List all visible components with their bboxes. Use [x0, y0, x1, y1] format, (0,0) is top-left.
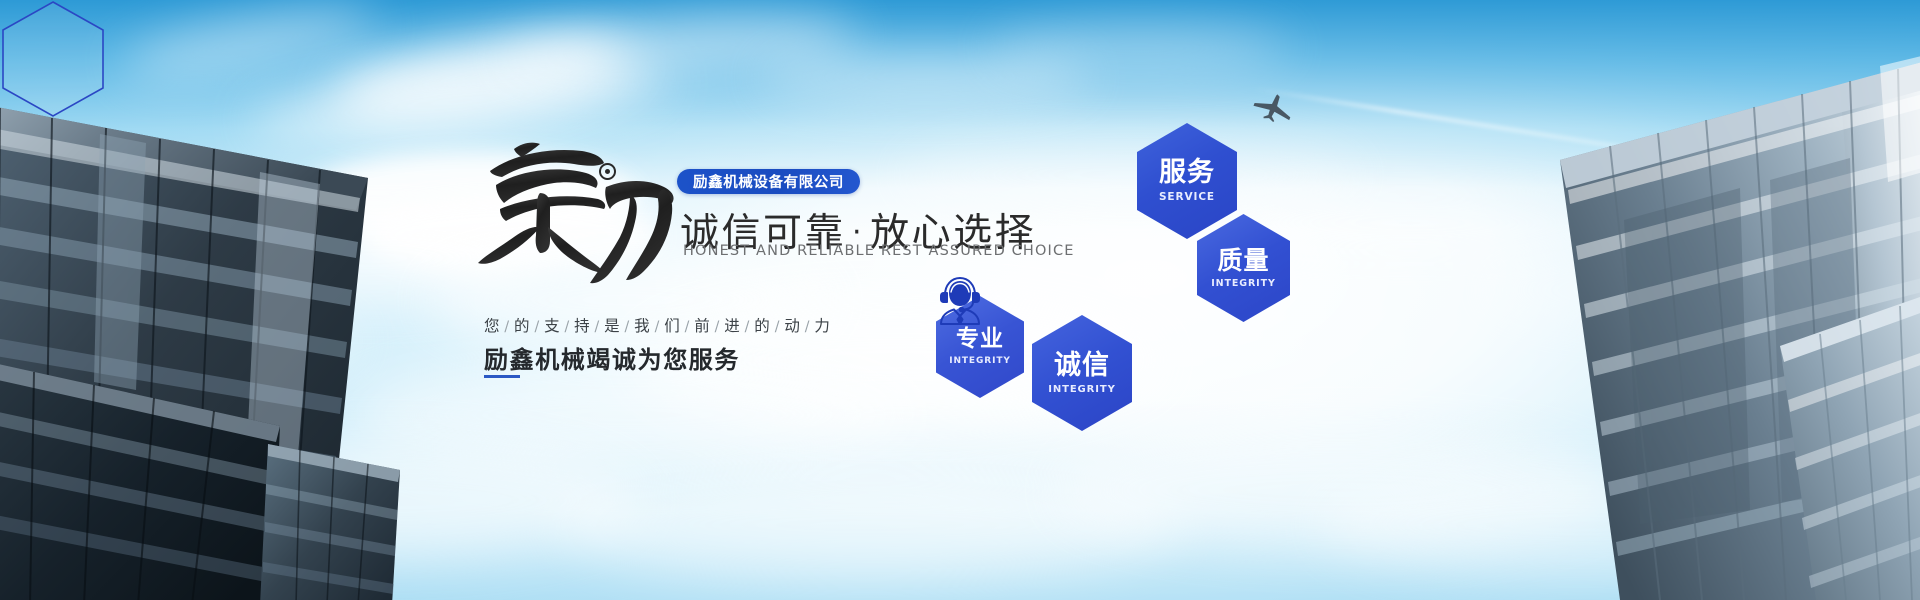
slogan-separator: /: [770, 319, 784, 335]
slogan-separator: /: [530, 319, 544, 335]
slogan-main: 励鑫机械竭诚为您服务: [484, 340, 740, 375]
slogan-separator: /: [620, 319, 634, 335]
slogan-char: 您: [484, 317, 500, 335]
slogan-separator: /: [650, 319, 664, 335]
headline-accent-dot: [599, 163, 616, 180]
hexagon-service-label-cn: 服务: [1159, 159, 1215, 186]
hexagon-quality-label-en: INTEGRITY: [1211, 279, 1276, 289]
hexagon-service-label-en: SERVICE: [1159, 192, 1215, 203]
slogan-char: 是: [604, 317, 620, 335]
slogan-separator: /: [560, 319, 574, 335]
slogan-underline-rule: [484, 375, 520, 378]
hexagon-professional-label-en: INTEGRITY: [949, 357, 1011, 366]
slogan-separator: /: [590, 319, 604, 335]
slogan-char: 的: [514, 317, 530, 335]
slogan-separator: /: [800, 319, 814, 335]
hexagon-integrity-label-en: INTEGRITY: [1048, 385, 1116, 395]
skyscraper-left-small: [250, 400, 430, 600]
cloud-decoration: [990, 26, 1290, 70]
slogan-separator: /: [500, 319, 514, 335]
slogan-separator: /: [680, 319, 694, 335]
headline-brush-word: [470, 135, 700, 285]
slogan-separated-chars: 您/的/支/持/是/我/们/前/进/的/动/力: [484, 314, 830, 336]
slogan-char: 动: [784, 317, 800, 335]
slogan-char: 的: [754, 317, 770, 335]
slogan-separator: /: [710, 319, 724, 335]
skyscraper-right-secondary: [1700, 250, 1920, 600]
customer-service-agent-icon: [934, 273, 986, 327]
slogan-char: 前: [694, 317, 710, 335]
hero-banner: 励鑫机械设备有限公司 诚信可靠·放心选择 HONEST AND RELIABLE…: [0, 0, 1920, 600]
slogan-char: 力: [814, 317, 830, 335]
slogan-char: 支: [544, 317, 560, 335]
slogan-char: 持: [574, 317, 590, 335]
slogan-char: 进: [724, 317, 740, 335]
slogan-char: 我: [634, 317, 650, 335]
hexagon-quality-label-cn: 质量: [1217, 248, 1269, 273]
slogan-separator: /: [740, 319, 754, 335]
slogan-char: 们: [664, 317, 680, 335]
hexagon-integrity-label-cn: 诚信: [1054, 352, 1110, 379]
hexagon-professional-label-cn: 专业: [956, 328, 1004, 351]
company-name-badge: 励鑫机械设备有限公司: [677, 169, 860, 194]
tagline-english: HONEST AND RELIABLE REST ASSURED CHOICE: [683, 243, 1075, 259]
hexagon-center-outline: [0, 0, 106, 118]
